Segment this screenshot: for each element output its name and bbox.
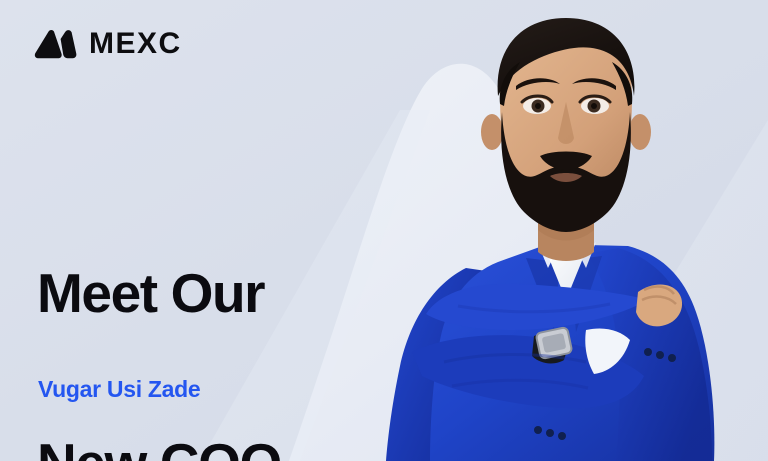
executive-portrait — [348, 0, 768, 461]
hand — [636, 285, 682, 327]
shirt-cuff — [585, 328, 630, 374]
head — [481, 18, 651, 232]
page-title: Meet Our New COO — [37, 152, 281, 461]
announcement-banner: MEXC Meet Our New COO Vugar Usi Zade — [0, 0, 768, 461]
beard — [501, 112, 631, 232]
executive-name: Vugar Usi Zade — [38, 377, 200, 402]
mexc-mountain-mark-icon — [34, 29, 78, 59]
suit-jacket — [386, 244, 714, 461]
wristwatch — [532, 327, 572, 364]
headline-line-2: New COO — [37, 435, 281, 461]
headline-line-1: Meet Our — [37, 265, 281, 322]
crossed-arms — [412, 284, 682, 440]
mexc-wordmark: MEXC — [89, 29, 182, 59]
hair — [498, 18, 635, 96]
dress-shirt — [538, 242, 596, 301]
mexc-logo[interactable]: MEXC — [34, 29, 182, 59]
neck — [538, 196, 594, 261]
